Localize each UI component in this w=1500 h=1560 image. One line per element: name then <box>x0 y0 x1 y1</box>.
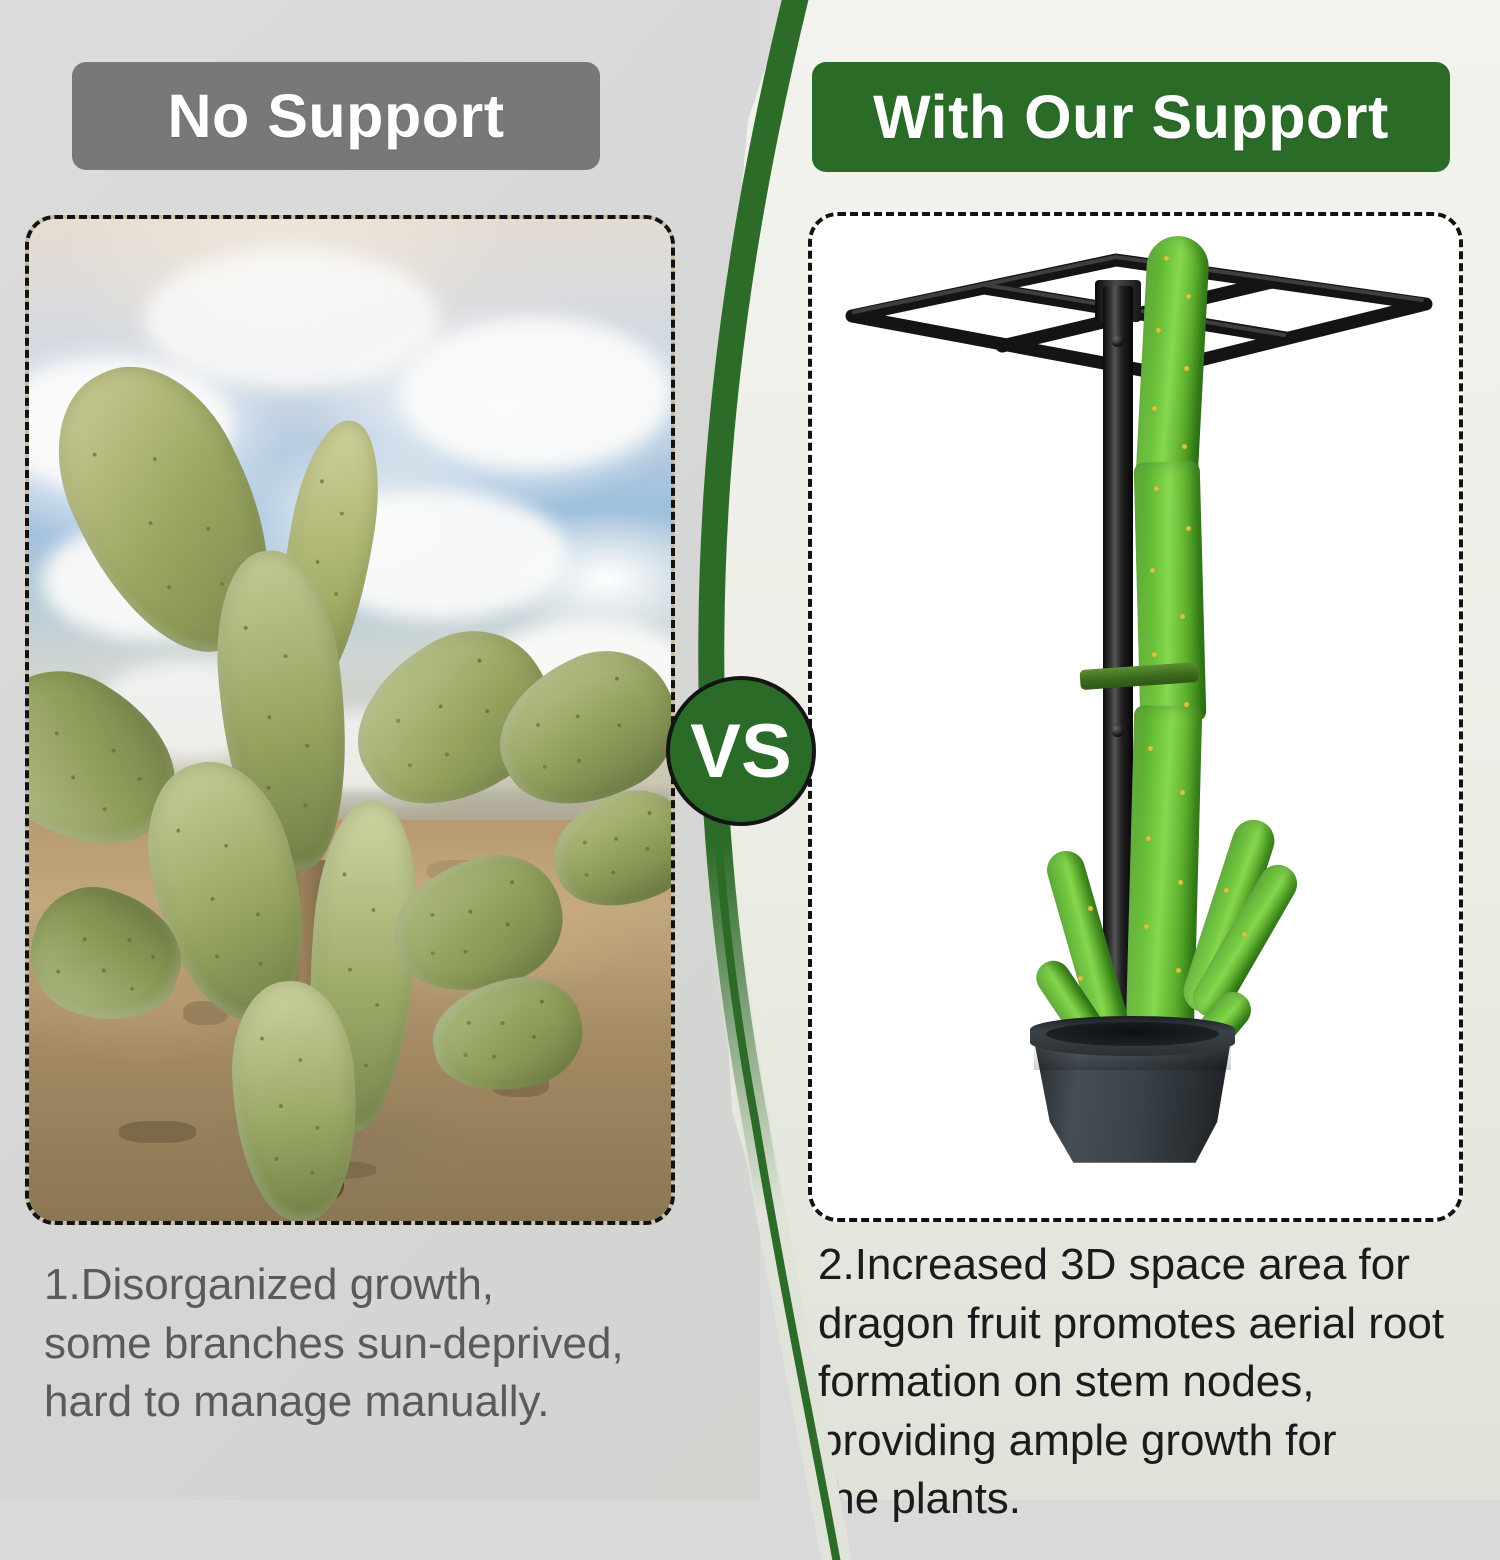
left-caption: 1.Disorganized growth, some branches sun… <box>44 1256 704 1432</box>
cactus-spine <box>1176 968 1181 973</box>
soil-speck <box>119 1121 196 1143</box>
cactus-spine <box>1148 746 1153 751</box>
cactus-spine <box>1184 702 1189 707</box>
post-bolt <box>1111 724 1124 737</box>
cactus-spine <box>1242 932 1247 937</box>
cactus-spine <box>1180 614 1185 619</box>
cactus-spine <box>1150 568 1155 573</box>
cactus-spine <box>1182 444 1187 449</box>
cactus-spine <box>1088 906 1093 911</box>
cactus-spine <box>1184 366 1189 371</box>
desert-cactus-photo <box>29 219 671 1221</box>
cactus-spine <box>1144 924 1149 929</box>
cactus-spine <box>1152 652 1157 657</box>
cactus-spine <box>1156 328 1161 333</box>
badge-with-our-support: With Our Support <box>812 62 1450 172</box>
right-photo-frame <box>808 212 1463 1222</box>
cactus-spine <box>1078 976 1083 981</box>
post-bolt <box>1111 334 1124 347</box>
cactus-spine <box>1186 526 1191 531</box>
cactus-spine <box>1154 486 1159 491</box>
trellis-product-photo <box>812 216 1459 1218</box>
badge-no-support: No Support <box>72 62 600 170</box>
cactus-spine <box>1186 294 1191 299</box>
cactus-spine <box>1178 880 1183 885</box>
cactus-spine <box>1152 406 1157 411</box>
cloud <box>145 249 440 389</box>
cactus-spine <box>1180 790 1185 795</box>
cactus-spine <box>1224 888 1229 893</box>
comparison-infographic: No Support With Our Support <box>0 0 1500 1500</box>
cactus-spine <box>1146 836 1151 841</box>
cloud <box>401 319 671 469</box>
plant-pot <box>1030 1016 1235 1176</box>
cactus-main-stem-upper <box>1136 235 1210 478</box>
cactus-spine <box>1164 256 1169 261</box>
left-photo-frame <box>25 215 675 1225</box>
pot-rim-inner <box>1046 1022 1219 1046</box>
vs-badge: VS <box>666 676 816 826</box>
right-caption: 2.Increased 3D space area for dragon fru… <box>818 1236 1458 1529</box>
